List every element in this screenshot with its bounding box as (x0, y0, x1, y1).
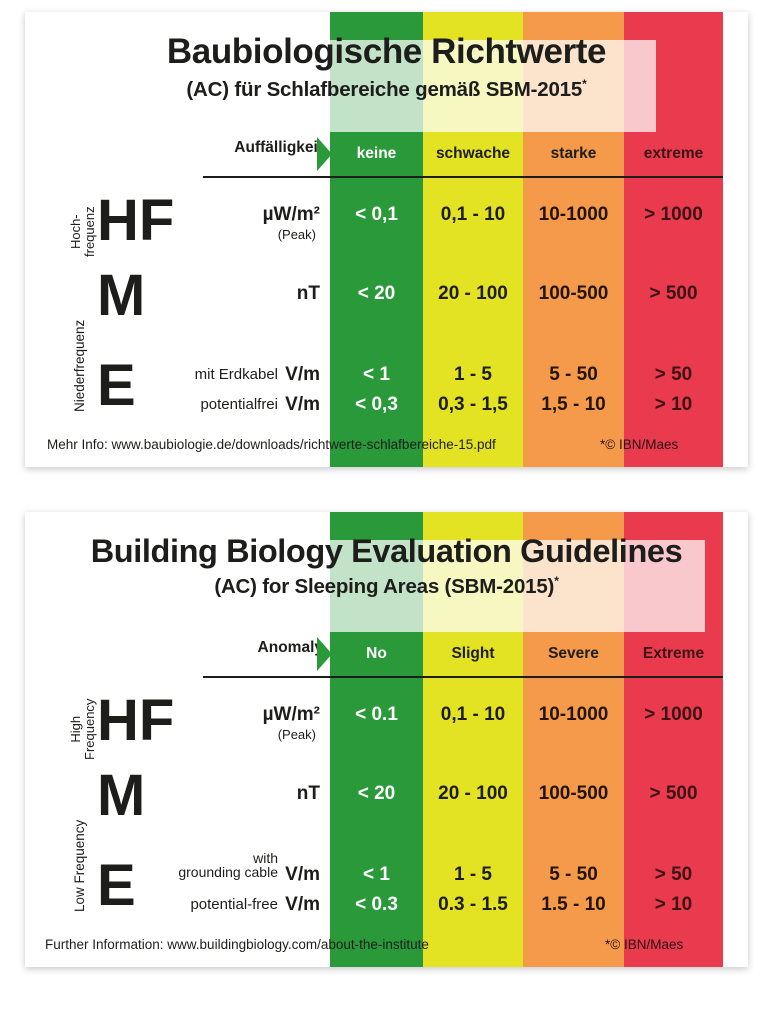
cell-slight: 20 - 100 (423, 779, 523, 809)
cell-none: < 0,3 (330, 390, 423, 420)
header-divider (203, 676, 723, 678)
row-qualifier: potentialfrei (200, 390, 278, 420)
cell-extreme: > 50 (624, 360, 723, 390)
column-header-severe: Severe (523, 641, 624, 667)
subtitle-footnote-marker: * (554, 574, 558, 588)
footer-copyright: *© IBN/Maes (600, 437, 678, 452)
cell-severe: 100-500 (523, 779, 624, 809)
cell-severe: 10-1000 (523, 700, 624, 730)
row-unit: µW/m² (263, 700, 320, 730)
cell-slight: 1 - 5 (423, 360, 523, 390)
cell-extreme: > 500 (624, 779, 723, 809)
page-subtitle: (AC) for Sleeping Areas (SBM-2015)* (25, 574, 748, 599)
card-footer: Further Information: www.buildingbiology… (25, 937, 748, 957)
table-row: with grounding cable V/m < 1 1 - 5 5 - 5… (25, 860, 748, 890)
cell-slight: 0,1 - 10 (423, 200, 523, 230)
page-title: Building Biology Evaluation Guidelines (25, 534, 748, 568)
column-header-slight: Slight (423, 641, 523, 667)
cell-slight: 1 - 5 (423, 860, 523, 890)
english-guideline-card: Building Biology Evaluation Guidelines (… (25, 512, 748, 967)
cell-slight: 20 - 100 (423, 279, 523, 309)
row-unit: V/m (285, 890, 320, 920)
cell-none: < 0,1 (330, 200, 423, 230)
row-unit: nT (297, 279, 320, 309)
table-row: potential-free V/m < 0.3 0.3 - 1.5 1.5 -… (25, 890, 748, 920)
cell-severe: 1,5 - 10 (523, 390, 624, 420)
footer-info-link[interactable]: Mehr Info: www.baubiologie.de/downloads/… (47, 437, 496, 452)
cell-extreme: > 1000 (624, 700, 723, 730)
poster-page: Baubiologische Richtwerte (AC) für Schla… (0, 0, 773, 1024)
row-qualifier: mit Erdkabel (195, 360, 278, 390)
row-qualifier: with grounding cable (178, 851, 278, 880)
cell-extreme: > 10 (624, 890, 723, 920)
table-header-row: Auffälligkeit keine schwache starke extr… (25, 137, 748, 171)
cell-slight: 0,1 - 10 (423, 700, 523, 730)
card-footer: Mehr Info: www.baubiologie.de/downloads/… (25, 437, 748, 457)
german-guideline-card: Baubiologische Richtwerte (AC) für Schla… (25, 12, 748, 467)
cell-none: < 0.3 (330, 890, 423, 920)
cell-none: < 1 (330, 860, 423, 890)
header-divider (203, 176, 723, 178)
cell-severe: 5 - 50 (523, 860, 624, 890)
column-header-extreme: extreme (624, 141, 723, 167)
table-row: µW/m² (Peak) < 0,1 0,1 - 10 10-1000 > 10… (25, 200, 748, 230)
row-unit: µW/m² (263, 200, 320, 230)
cell-severe: 5 - 50 (523, 360, 624, 390)
table-row: mit Erdkabel V/m < 1 1 - 5 5 - 50 > 50 (25, 360, 748, 390)
cell-none: < 20 (330, 279, 423, 309)
column-header-none: keine (330, 141, 423, 167)
row-unit: nT (297, 779, 320, 809)
table-header-row: Anomaly No Slight Severe Extreme (25, 637, 748, 671)
column-header-extreme: Extreme (624, 641, 723, 667)
title-block: Building Biology Evaluation Guidelines (… (25, 534, 748, 599)
column-header-slight: schwache (423, 141, 523, 167)
table-row: nT < 20 20 - 100 100-500 > 500 (25, 279, 748, 309)
cell-extreme: > 10 (624, 390, 723, 420)
subtitle-footnote-marker: * (582, 77, 586, 91)
page-title: Baubiologische Richtwerte (25, 34, 748, 71)
cell-none: < 0.1 (330, 700, 423, 730)
cell-severe: 100-500 (523, 279, 624, 309)
page-subtitle: (AC) für Schlafbereiche gemäß SBM-2015* (25, 77, 748, 102)
footer-info-link[interactable]: Further Information: www.buildingbiology… (45, 937, 429, 952)
cell-none: < 20 (330, 779, 423, 809)
cell-slight: 0,3 - 1,5 (423, 390, 523, 420)
column-header-severe: starke (523, 141, 624, 167)
table-row: µW/m² (Peak) < 0.1 0,1 - 10 10-1000 > 10… (25, 700, 748, 730)
footer-copyright: *© IBN/Maes (605, 937, 683, 952)
row-subnote: (Peak) (278, 227, 316, 242)
header-row-label: Auffälligkeit (234, 139, 323, 157)
cell-severe: 1.5 - 10 (523, 890, 624, 920)
row-qualifier: potential-free (190, 890, 278, 920)
cell-extreme: > 50 (624, 860, 723, 890)
cell-none: < 1 (330, 360, 423, 390)
row-subnote: (Peak) (278, 727, 316, 742)
row-unit: V/m (285, 360, 320, 390)
cell-extreme: > 1000 (624, 200, 723, 230)
header-row-label: Anomaly (258, 639, 323, 657)
cell-slight: 0.3 - 1.5 (423, 890, 523, 920)
table-row: potentialfrei V/m < 0,3 0,3 - 1,5 1,5 - … (25, 390, 748, 420)
title-block: Baubiologische Richtwerte (AC) für Schla… (25, 34, 748, 102)
cell-severe: 10-1000 (523, 200, 624, 230)
column-header-none: No (330, 641, 423, 667)
row-qualifier-line2: grounding cable (178, 864, 278, 880)
subtitle-text: (AC) for Sleeping Areas (SBM-2015) (214, 575, 554, 598)
subtitle-text: (AC) für Schlafbereiche gemäß SBM-2015 (186, 78, 582, 101)
row-unit: V/m (285, 860, 320, 890)
row-unit: V/m (285, 390, 320, 420)
cell-extreme: > 500 (624, 279, 723, 309)
table-row: nT < 20 20 - 100 100-500 > 500 (25, 779, 748, 809)
